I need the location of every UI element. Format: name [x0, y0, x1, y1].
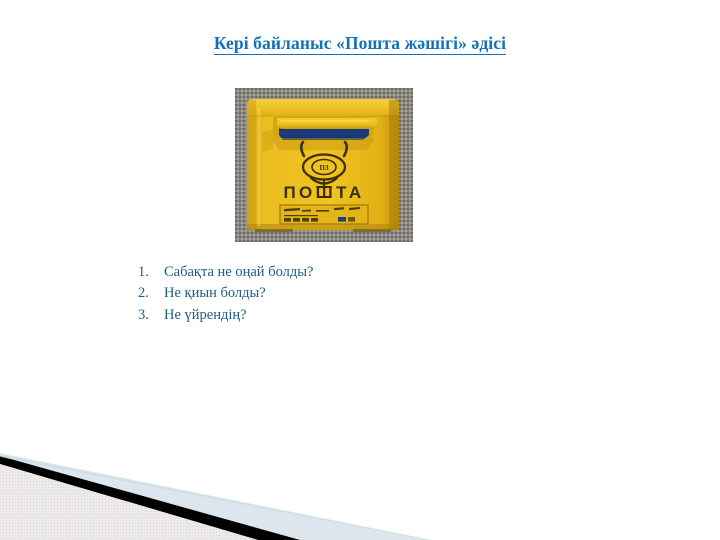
- black-stripe: [0, 456, 300, 540]
- corner-banner: [0, 445, 720, 540]
- banner-edge-line: [0, 453, 432, 540]
- list-item: 1. Сабақта не оңай болды?: [138, 262, 578, 283]
- list-item: 3. Не үйрендің?: [138, 305, 578, 326]
- list-item-label: Не қиын болды?: [164, 283, 266, 304]
- postbox-wordmark: ПОШТА: [283, 183, 364, 202]
- page-title: Кері байланыс «Пошта жәшігі» әдісі: [0, 33, 720, 55]
- postbox-photo: ПЗ ПОШТА: [235, 88, 413, 242]
- list-item-number: 1.: [138, 262, 164, 283]
- list-item-number: 2.: [138, 283, 164, 304]
- list-item-label: Не үйрендің?: [164, 305, 247, 326]
- page-title-text: Кері байланыс «Пошта жәшігі» әдісі: [214, 33, 506, 55]
- pale-blue-wedge: [0, 454, 430, 540]
- svg-text:ПЗ: ПЗ: [319, 164, 328, 172]
- list-item: 2. Не қиын болды?: [138, 283, 578, 304]
- list-item-label: Сабақта не оңай болды?: [164, 262, 313, 283]
- textured-wedge: [0, 464, 258, 540]
- slide-canvas: Кері байланыс «Пошта жәшігі» әдісі: [0, 0, 720, 540]
- list-item-number: 3.: [138, 305, 164, 326]
- question-list: 1. Сабақта не оңай болды? 2. Не қиын бол…: [138, 262, 578, 326]
